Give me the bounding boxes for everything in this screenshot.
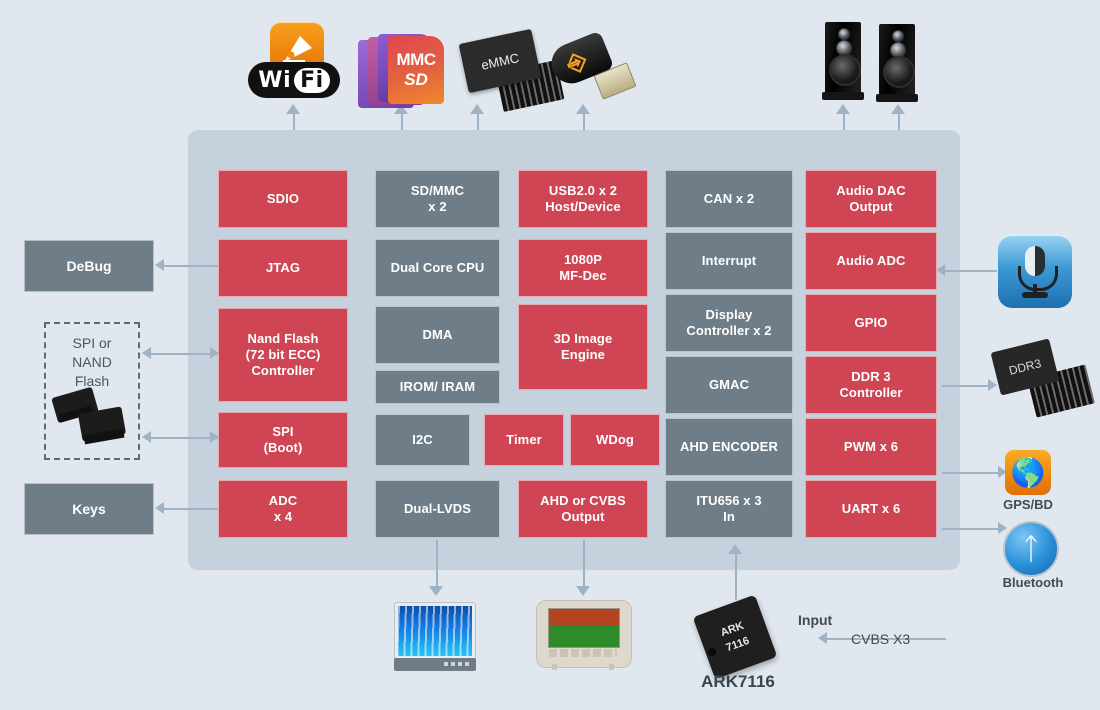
block-label: SPI(Boot) <box>264 424 303 456</box>
block-nand-flash-controller[interactable]: Nand Flash(72 bit ECC)Controller <box>218 308 348 402</box>
connector-bluetooth <box>942 528 1000 530</box>
block-sd-mmc-x2[interactable]: SD/MMCx 2 <box>375 170 500 228</box>
diagram-canvas: SDIO JTAG Nand Flash(72 bit ECC)Controll… <box>0 0 1100 710</box>
block-label: AHD ENCODER <box>680 439 778 455</box>
block-sdio[interactable]: SDIO <box>218 170 348 228</box>
block-label: GPIO <box>855 315 888 331</box>
ddr3-chip-label: DDR3 <box>1007 356 1042 377</box>
block-ddr3-controller[interactable]: DDR 3Controller <box>805 356 937 414</box>
emmc-chip-label: eMMC <box>480 50 521 73</box>
block-label: 3D ImageEngine <box>554 331 613 363</box>
connector-ark <box>735 552 737 600</box>
block-audio-adc[interactable]: Audio ADC <box>805 232 937 290</box>
connector-spi-arrow-r <box>210 431 219 443</box>
block-label: 1080PMF-Dec <box>559 252 607 284</box>
connector-nand-arrow-l <box>142 347 151 359</box>
flash-chip-icon <box>54 392 134 454</box>
globe-arrow-icon: 🌎 <box>1005 449 1051 495</box>
connector-cvbs-arrow <box>818 632 827 644</box>
connector-ddr3 <box>942 385 990 387</box>
connector-keys-arrow <box>155 502 164 514</box>
gps-caption: GPS/BD <box>978 497 1078 512</box>
mmc-card-label: MMC <box>396 50 435 70</box>
block-label: Nand Flash(72 bit ECC)Controller <box>246 331 321 379</box>
wifi-badge: WiFi <box>248 62 340 98</box>
connector-debug-arrow <box>155 259 164 271</box>
speaker-right-icon <box>876 24 918 106</box>
connector-headrest <box>583 540 585 588</box>
connector-monitor-arrow <box>429 586 443 596</box>
block-label: USB2.0 x 2Host/Device <box>545 183 621 215</box>
block-label: UART x 6 <box>842 501 901 517</box>
wifi-badge-fi: Fi <box>294 68 330 93</box>
block-display-controller-x2[interactable]: DisplayController x 2 <box>665 294 793 352</box>
debug-box[interactable]: DeBug <box>24 240 154 292</box>
keys-label: Keys <box>72 501 105 517</box>
block-label: AHD or CVBSOutput <box>540 493 626 525</box>
block-label: Audio DACOutput <box>836 183 906 215</box>
block-gpio[interactable]: GPIO <box>805 294 937 352</box>
ddr3-icon: DDR3 <box>995 345 1095 425</box>
input-label: Input <box>798 612 832 628</box>
block-adc-x4[interactable]: ADCx 4 <box>218 480 348 538</box>
block-label: PWM x 6 <box>844 439 898 455</box>
block-label: CAN x 2 <box>704 191 755 207</box>
block-dma[interactable]: DMA <box>375 306 500 364</box>
connector-debug <box>163 265 218 267</box>
connector-spi-arrow-l <box>142 431 151 443</box>
block-ahd-or-cvbs-output[interactable]: AHD or CVBSOutput <box>518 480 648 538</box>
connector-nand-arrow-r <box>210 347 219 359</box>
block-3d-image-engine[interactable]: 3D ImageEngine <box>518 304 648 390</box>
bluetooth-glyph-icon: ᛏ <box>1003 521 1059 577</box>
block-gmac[interactable]: GMAC <box>665 356 793 414</box>
wifi-badge-wi: Wi <box>258 68 291 93</box>
connector-monitor <box>436 540 438 588</box>
block-audio-dac-output[interactable]: Audio DACOutput <box>805 170 937 228</box>
monitor-icon <box>394 602 478 672</box>
block-label: Audio ADC <box>836 253 905 269</box>
block-label: WDog <box>596 432 634 448</box>
block-itu656-x3-in[interactable]: ITU656 x 3In <box>665 480 793 538</box>
connector-spi <box>150 437 218 439</box>
block-label: ITU656 x 3In <box>696 493 761 525</box>
block-label: SD/MMCx 2 <box>411 183 464 215</box>
block-label: DDR 3Controller <box>839 369 902 401</box>
block-label: I2C <box>412 432 433 448</box>
sd-card-label: SD <box>404 70 428 90</box>
block-label: Dual Core CPU <box>391 260 485 276</box>
block-label: SDIO <box>267 191 299 207</box>
connector-nand <box>150 353 218 355</box>
block-ahd-encoder[interactable]: AHD ENCODER <box>665 418 793 476</box>
ark-chip-line2: 7116 <box>724 635 751 654</box>
block-pwm-x6[interactable]: PWM x 6 <box>805 418 937 476</box>
bluetooth-caption: Bluetooth <box>978 575 1088 590</box>
block-label: DisplayController x 2 <box>686 307 771 339</box>
block-label: Interrupt <box>702 253 756 269</box>
block-label: IROM/ IRAM <box>400 379 475 395</box>
block-uart-x6[interactable]: UART x 6 <box>805 480 937 538</box>
block-i2c[interactable]: I2C <box>375 414 470 466</box>
debug-label: DeBug <box>66 258 111 274</box>
block-dual-core-cpu[interactable]: Dual Core CPU <box>375 239 500 297</box>
block-can-x2[interactable]: CAN x 2 <box>665 170 793 228</box>
connector-keys <box>163 508 218 510</box>
ark-caption: ARK7116 <box>678 672 798 692</box>
block-label: ADCx 4 <box>269 493 297 525</box>
block-spi-boot[interactable]: SPI(Boot) <box>218 412 348 468</box>
block-label: Timer <box>506 432 542 448</box>
block-label: GMAC <box>709 377 749 393</box>
usb-flash-drive-icon: ⎆ <box>545 36 635 106</box>
gps-icon: 🌎 <box>1005 449 1051 495</box>
block-dual-lvds[interactable]: Dual-LVDS <box>375 480 500 538</box>
sd-mmc-icon: MMC SD <box>358 34 450 106</box>
mic-icon <box>998 234 1072 308</box>
connector-mic <box>942 270 997 272</box>
keys-box[interactable]: Keys <box>24 483 154 535</box>
block-1080p-mf-dec[interactable]: 1080PMF-Dec <box>518 239 648 297</box>
connector-headrest-arrow <box>576 586 590 596</box>
bt-icon: ᛏ <box>1003 521 1059 577</box>
block-label: DMA <box>423 327 453 343</box>
block-irom-iram[interactable]: IROM/ IRAM <box>375 370 500 404</box>
connector-mic-arrow <box>936 264 945 276</box>
block-wdog[interactable]: WDog <box>570 414 660 466</box>
ark-chip-body: ARK 7116 <box>693 595 778 680</box>
block-jtag[interactable]: JTAG <box>218 239 348 297</box>
connector-wifi-arrow <box>286 104 300 114</box>
cvbs-label: CVBS X3 <box>851 631 910 647</box>
block-usb2-host-device[interactable]: USB2.0 x 2Host/Device <box>518 170 648 228</box>
block-label: Dual-LVDS <box>404 501 471 517</box>
speaker-left-icon <box>822 22 864 104</box>
speakers-icon <box>818 22 928 108</box>
block-timer[interactable]: Timer <box>484 414 564 466</box>
connector-ark-arrow <box>728 544 742 554</box>
spi-nand-flash-label: SPI orNANDFlash <box>46 334 138 391</box>
block-interrupt[interactable]: Interrupt <box>665 232 793 290</box>
ark-icon: ARK 7116 <box>702 604 774 676</box>
connector-gps <box>942 472 1000 474</box>
wifi-icon: WiFi <box>248 22 340 100</box>
headrest-icon <box>536 600 632 672</box>
block-label: JTAG <box>266 260 300 276</box>
